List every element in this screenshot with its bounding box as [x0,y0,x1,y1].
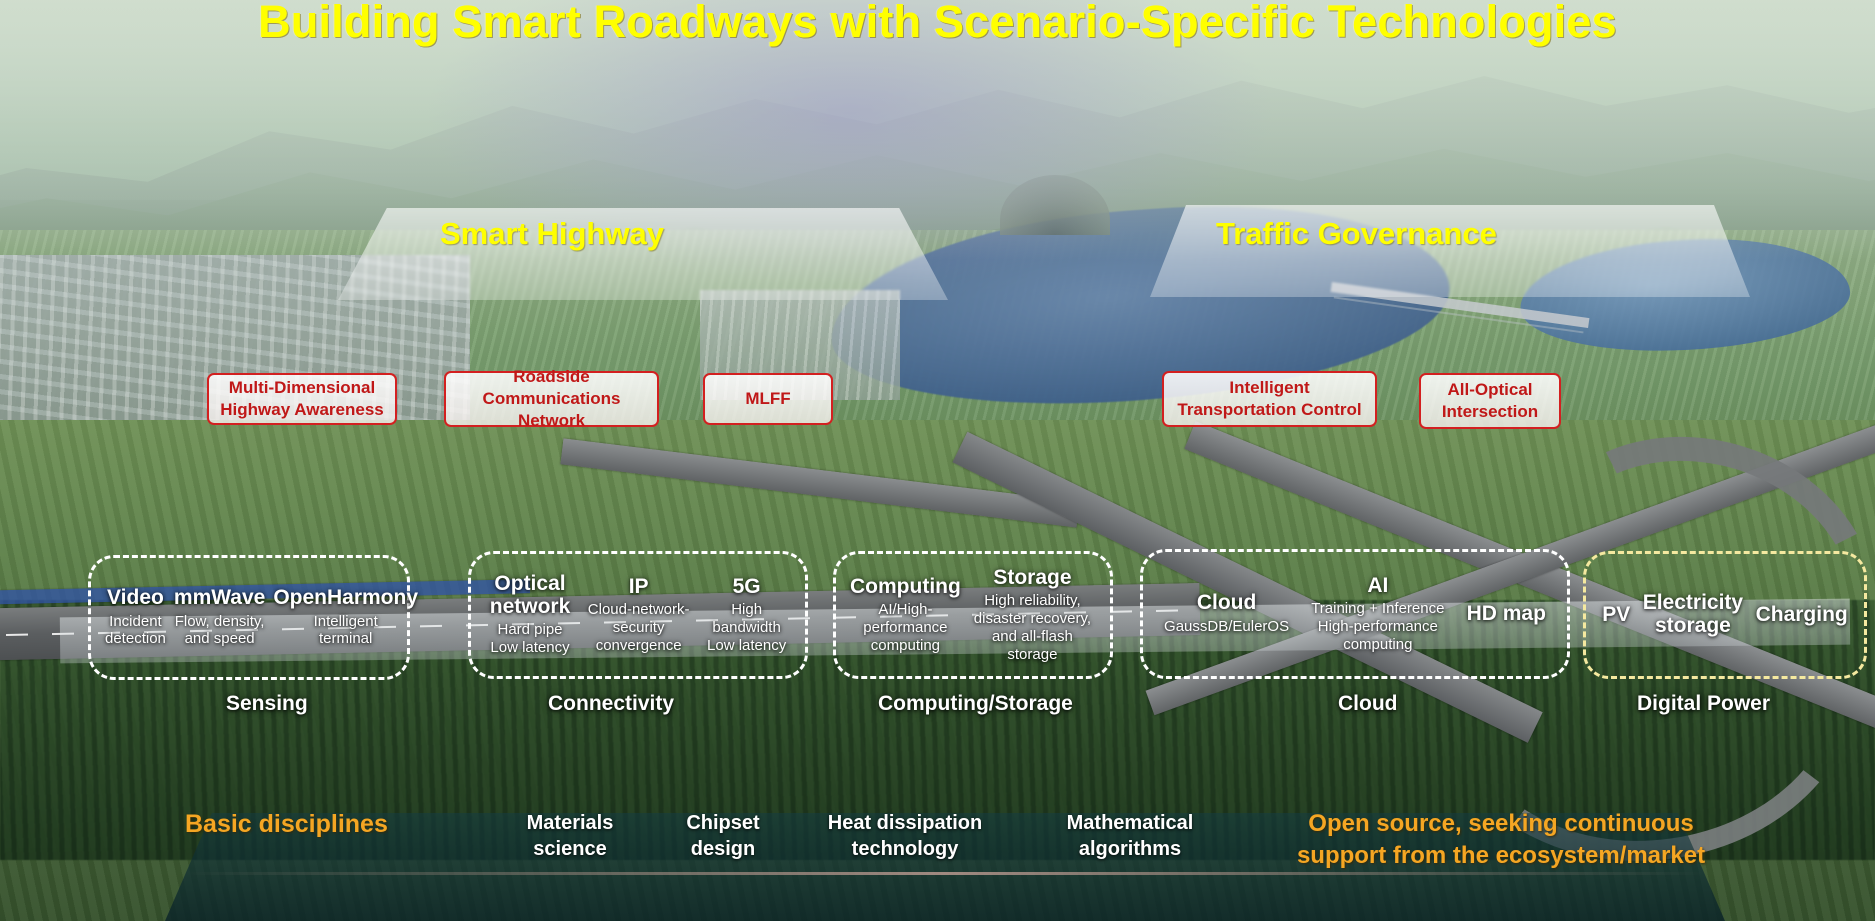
tech-item-mmwave[interactable]: mmWave Flow, density, and speed [170,587,269,648]
tech-item-title: Cloud [1164,592,1289,615]
scene-label-smart-highway: Smart Highway [440,216,664,252]
tech-item-video[interactable]: Video Incident detection [101,587,170,648]
callout-roadside-communications-network[interactable]: Roadside Communications Network [444,371,659,427]
tech-item-title: Storage [969,567,1096,590]
tech-item-detail: Flow, density, and speed [174,613,265,648]
page-title: Building Smart Roadways with Scenario-Sp… [0,0,1875,48]
layer-panel-sensing[interactable]: Video Incident detection mmWave Flow, de… [88,555,410,680]
tech-item-electricity-storage[interactable]: Electricity storage [1639,592,1747,637]
tech-item-title: IP [588,576,690,599]
tech-item-cloud[interactable]: Cloud GaussDB/EulerOS [1160,592,1293,635]
callout-all-optical-intersection[interactable]: All-Optical Intersection [1419,373,1561,429]
tech-item-detail: AI/High- performance computing [850,601,961,654]
layer-panel-cloud[interactable]: Cloud GaussDB/EulerOS AI Training + Infe… [1140,549,1570,679]
layer-name-connectivity: Connectivity [548,692,674,716]
infographic-stage: Building Smart Roadways with Scenario-Sp… [0,0,1875,921]
discipline-heat-dissipation: Heat dissipation technology [810,810,1000,862]
callout-intelligent-transportation-control[interactable]: Intelligent Transportation Control [1162,371,1377,427]
tech-item-ip[interactable]: IP Cloud-network- security convergence [584,576,694,655]
layer-name-sensing: Sensing [226,692,308,716]
tech-item-charging[interactable]: Charging [1752,604,1852,627]
tech-item-detail: High bandwidth Low latency [707,601,786,654]
discipline-materials-science: Materials science [505,810,635,862]
tech-item-title: Electricity storage [1643,592,1743,637]
tech-item-optical-network[interactable]: Optical network Hard pipe Low latency [486,573,575,657]
tech-item-storage[interactable]: Storage High reliability, disaster recov… [965,567,1100,663]
layer-name-digital-power: Digital Power [1637,692,1770,716]
tech-item-title: 5G [707,576,786,599]
tech-item-hd-map[interactable]: HD map [1463,603,1550,626]
layer-name-cloud: Cloud [1338,692,1397,716]
tech-item-title: OpenHarmony [273,587,418,610]
ecosystem-note: Open source, seeking continuous support … [1266,808,1736,871]
tech-item-title: Charging [1756,604,1848,627]
layer-panel-connectivity[interactable]: Optical network Hard pipe Low latency IP… [468,551,808,679]
tech-item-detail: GaussDB/EulerOS [1164,618,1289,636]
scene-label-traffic-governance: Traffic Governance [1216,216,1497,252]
tech-item-detail: Intelligent terminal [273,613,418,648]
tech-item-title: Video [105,587,166,610]
tech-item-title: Optical network [490,573,571,618]
tech-item-title: Computing [850,576,961,599]
discipline-mathematical-algorithms: Mathematical algorithms [1040,810,1220,862]
basic-disciplines-heading: Basic disciplines [185,810,388,839]
aerial-landscape-background [0,0,1875,921]
tech-item-detail: Incident detection [105,613,166,648]
tech-item-title: AI [1311,575,1444,598]
tech-item-title: mmWave [174,587,265,610]
discipline-chipset-design: Chipset design [668,810,778,862]
tech-item-5g[interactable]: 5G High bandwidth Low latency [703,576,790,655]
layer-panel-digital-power[interactable]: PV Electricity storage Charging [1583,551,1867,679]
tech-item-detail: Training + Inference High-performance co… [1311,600,1444,653]
tech-item-detail: Hard pipe Low latency [490,621,571,656]
tech-item-computing[interactable]: Computing AI/High- performance computing [846,576,965,655]
tech-item-pv[interactable]: PV [1598,604,1634,627]
layer-panel-computing-storage[interactable]: Computing AI/High- performance computing… [833,551,1113,679]
bottom-accent-line [185,872,1705,875]
layer-name-computing-storage: Computing/Storage [878,692,1073,716]
callout-multi-dimensional-highway-awareness[interactable]: Multi-Dimensional Highway Awareness [207,373,397,425]
tech-item-detail: High reliability, disaster recovery, and… [969,592,1096,663]
tech-item-openharmony[interactable]: OpenHarmony Intelligent terminal [269,587,422,648]
tech-item-ai[interactable]: AI Training + Inference High-performance… [1307,575,1448,654]
callout-mlff[interactable]: MLFF [703,373,833,425]
tech-item-title: HD map [1467,603,1546,626]
tech-item-title: PV [1602,604,1630,627]
tech-item-detail: Cloud-network- security convergence [588,601,690,654]
